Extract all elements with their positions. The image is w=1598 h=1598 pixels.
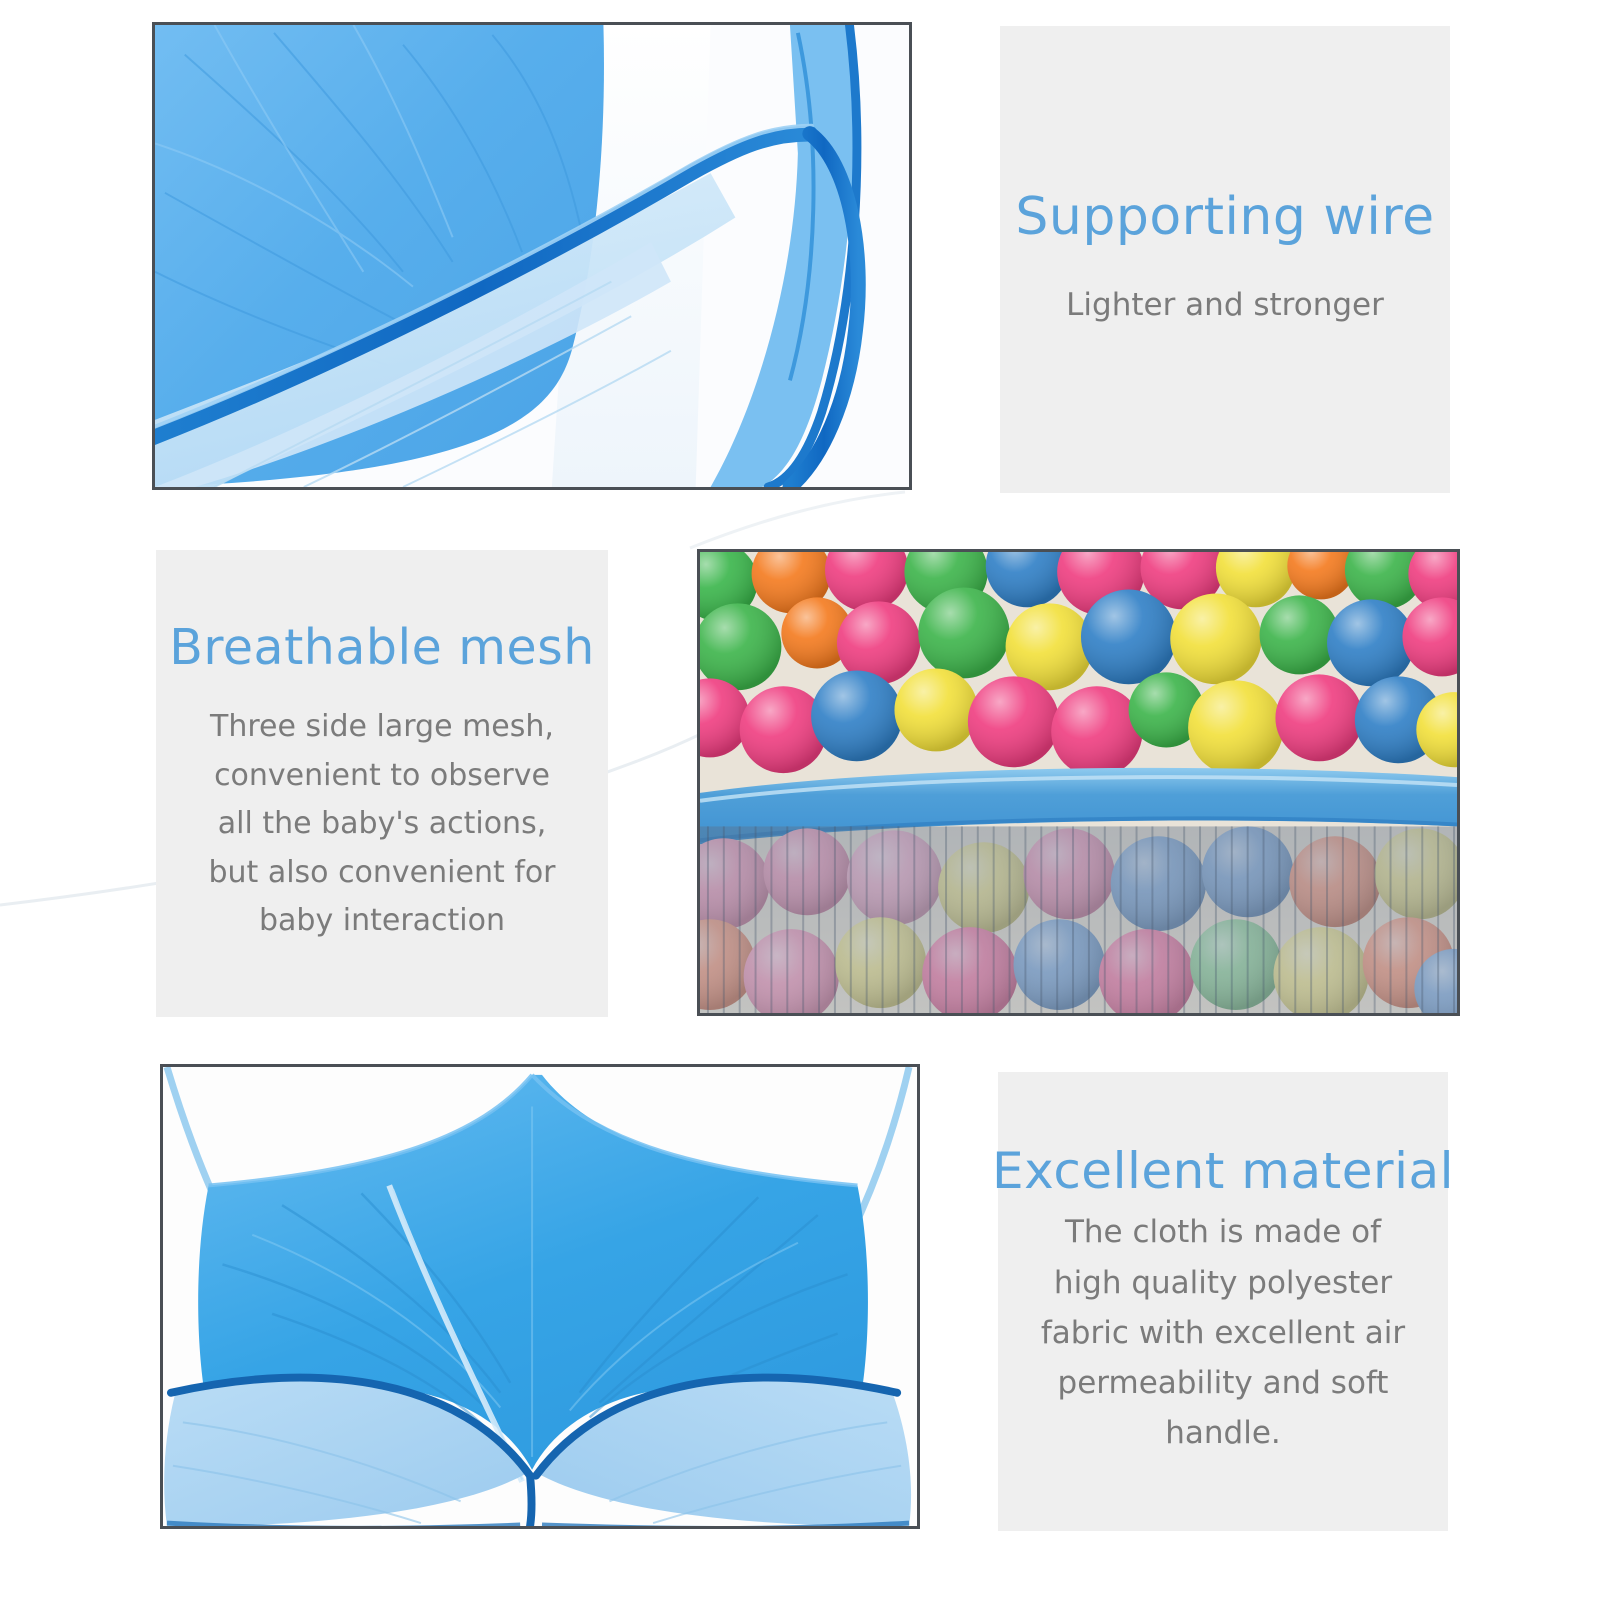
excellent-material-body-line: fabric with excellent air	[1041, 1308, 1405, 1358]
excellent-material-body-line: high quality polyester	[1054, 1258, 1392, 1308]
excellent-material-body-line: permeability and soft	[1058, 1358, 1389, 1408]
breathable-mesh-body-line: but also convenient for	[208, 849, 555, 898]
breathable-mesh-body-line: all the baby's actions,	[218, 800, 547, 849]
supporting-wire-body-line: Lighter and stronger	[1066, 280, 1384, 330]
mesh-tent-photo-artwork	[163, 1067, 917, 1526]
supporting-wire-text-panel: Supporting wire Lighter and stronger	[1000, 26, 1450, 493]
supporting-wire-photo	[152, 22, 912, 490]
infographic-canvas: Supporting wire Lighter and stronger Bre…	[0, 0, 1598, 1598]
excellent-material-body-line: handle.	[1165, 1408, 1281, 1458]
breathable-mesh-text-panel: Breathable mesh Three side large mesh, c…	[156, 550, 608, 1017]
excellent-material-text-panel: Excellent material The cloth is made of …	[998, 1072, 1448, 1531]
ball-pit-photo	[697, 549, 1460, 1016]
breathable-mesh-body-line: convenient to observe	[214, 752, 550, 801]
mesh-tent-photo	[160, 1064, 920, 1529]
excellent-material-body-line: The cloth is made of	[1065, 1207, 1381, 1257]
excellent-material-heading: Excellent material	[992, 1144, 1454, 1199]
breathable-mesh-heading: Breathable mesh	[169, 621, 595, 675]
breathable-mesh-body-line: baby interaction	[259, 897, 505, 946]
upper-balls	[700, 552, 1457, 777]
supporting-wire-photo-artwork	[155, 25, 909, 487]
breathable-mesh-body-line: Three side large mesh,	[210, 703, 554, 752]
supporting-wire-heading: Supporting wire	[1015, 189, 1434, 246]
ball-pit-photo-artwork	[700, 552, 1457, 1013]
